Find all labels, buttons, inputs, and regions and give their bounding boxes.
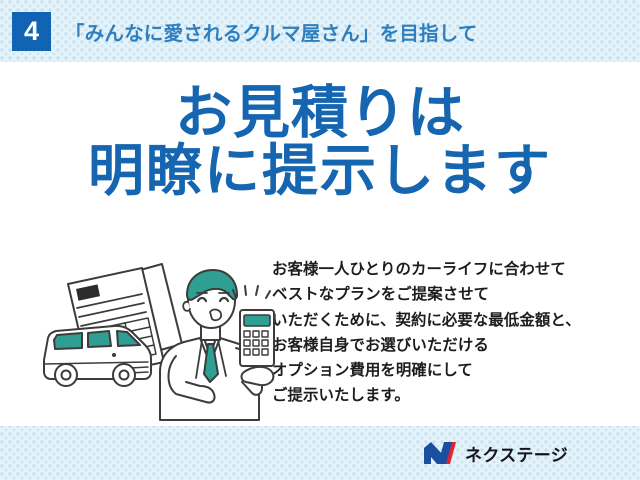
calculator bbox=[240, 310, 274, 366]
headline-line-2: 明瞭に提示します bbox=[0, 142, 640, 199]
van-illustration bbox=[44, 326, 151, 386]
brand-logo-text: ネクステージ bbox=[465, 441, 568, 466]
sparkle-marks bbox=[233, 286, 270, 298]
calculator-display bbox=[244, 315, 270, 326]
section-number-badge: 4 bbox=[12, 12, 51, 51]
brand-logo: ネクステージ bbox=[424, 441, 568, 466]
body-line: いただくために、契約に必要な最低金額と、 bbox=[272, 308, 640, 333]
headline: お見積りは 明瞭に提示します bbox=[0, 84, 640, 199]
header-title: 「みんなに愛されるクルマ屋さん」を目指して bbox=[65, 17, 478, 46]
body-line: ご提示いたします。 bbox=[272, 383, 640, 408]
header-bar: 4 「みんなに愛されるクルマ屋さん」を目指して bbox=[0, 0, 640, 62]
promo-banner: 4 「みんなに愛されるクルマ屋さん」を目指して お見積りは 明瞭に提示します お… bbox=[0, 0, 640, 480]
body-line: ベストなプランをご提案させて bbox=[272, 282, 640, 307]
body-line: お客様一人ひとりのカーライフに合わせて bbox=[272, 257, 640, 282]
salesman-quote-car-illustration bbox=[30, 252, 275, 422]
body-line: オプション費用を明確にして bbox=[272, 358, 640, 383]
open-hand bbox=[242, 367, 274, 385]
headline-line-1: お見積りは bbox=[0, 84, 640, 142]
illustration bbox=[30, 252, 275, 422]
nextage-n-logo-icon bbox=[424, 442, 458, 464]
footer-bar: ネクステージ bbox=[0, 426, 640, 480]
body-line: お客様自身でお選びいただける bbox=[272, 333, 640, 358]
content-panel: お見積りは 明瞭に提示します お客様一人ひとりのカーライフに合わせて ベストなプ… bbox=[0, 62, 640, 426]
body-copy: お客様一人ひとりのカーライフに合わせて ベストなプランをご提案させて いただくた… bbox=[272, 257, 640, 409]
